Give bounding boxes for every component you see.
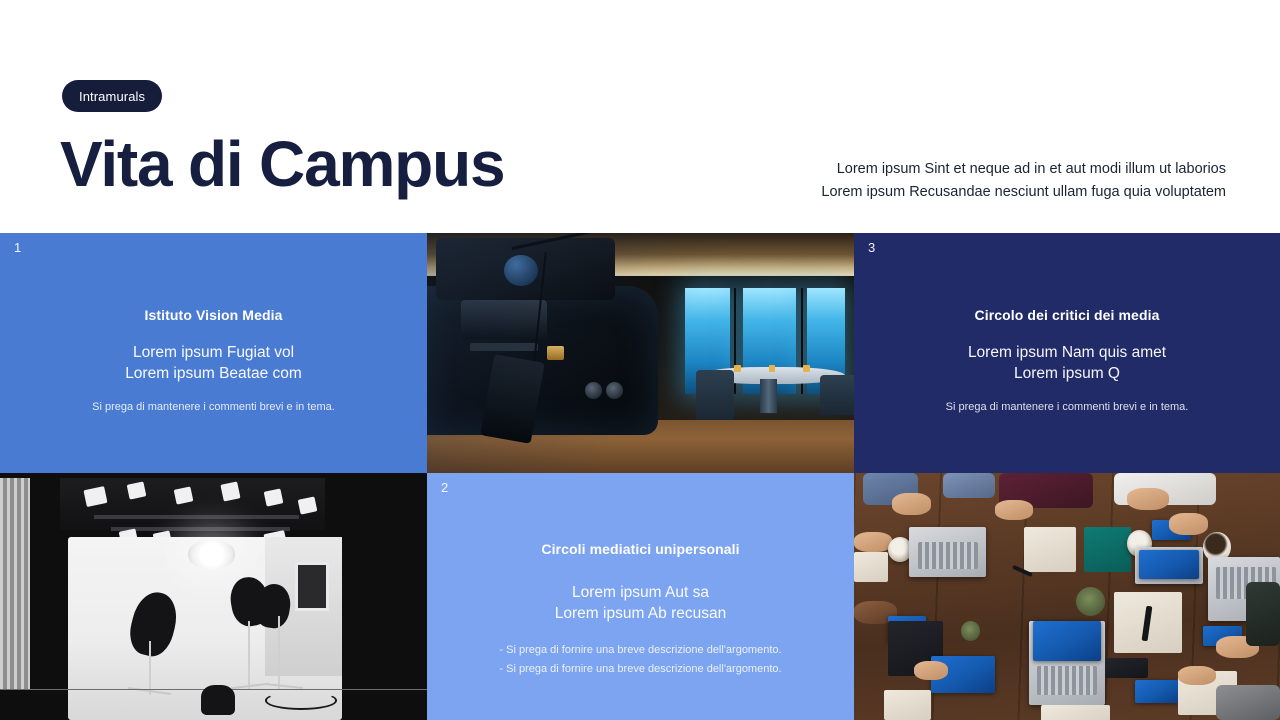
card-3-body-line-1: Lorem ipsum Nam quis amet: [880, 342, 1254, 363]
slide-header: Intramurals Vita di Campus Lorem ipsum S…: [0, 0, 1280, 233]
light-stand-3: [278, 616, 280, 690]
person-sleeve-6: [1216, 685, 1280, 720]
slide: Intramurals Vita di Campus Lorem ipsum S…: [0, 0, 1280, 720]
card-3-number: 3: [868, 240, 875, 256]
person-hand-2: [995, 500, 1033, 520]
person-hand-3: [1127, 488, 1170, 510]
laptop-2-screen: [1033, 621, 1101, 661]
card-1-content: Istituto Vision Media Lorem ipsum Fugiat…: [0, 233, 427, 417]
light-rail-1: [94, 515, 299, 519]
card-3-title: Circolo dei critici dei media: [880, 306, 1254, 324]
coiled-cable: [265, 691, 337, 710]
laptop-2-keyboard: [1037, 666, 1097, 696]
coffee-cup-1: [888, 537, 911, 562]
card-3-body-line-2: Lorem ipsum Q: [880, 363, 1254, 384]
card-2-number: 2: [441, 480, 448, 496]
card-2-note: - Si prega di fornire una breve descrizi…: [453, 641, 828, 679]
person-hand-6: [914, 661, 948, 681]
laptop-1-keyboard: [918, 542, 978, 569]
person-hand-9: [1178, 666, 1216, 686]
ceiling-lamp-6: [298, 496, 318, 514]
card-2-title: Circoli mediatici unipersonali: [453, 540, 828, 558]
photo-meeting-table: [854, 473, 1280, 720]
light-rail-2: [111, 527, 290, 531]
person-hand-4: [854, 532, 892, 552]
category-badge: Intramurals: [62, 80, 162, 112]
card-2-body-line-2: Lorem ipsum Ab recusan: [453, 603, 828, 624]
card-2[interactable]: 2 Circoli mediatici unipersonali Lorem i…: [427, 473, 854, 720]
card-2-body-line-1: Lorem ipsum Aut sa: [453, 582, 828, 603]
phone-case: [1105, 658, 1148, 678]
photo-studio-image: [0, 473, 427, 720]
card-2-content: Circoli mediatici unipersonali Lorem ips…: [427, 473, 854, 679]
card-1-title: Istituto Vision Media: [26, 306, 401, 324]
card-1-body: Lorem ipsum Fugiat vol Lorem ipsum Beata…: [26, 342, 401, 384]
tablet-2-screen: [1139, 550, 1199, 580]
card-1-body-line-2: Lorem ipsum Beatae com: [26, 363, 401, 384]
studio-curtain: [0, 478, 30, 690]
card-1-note-line-1: Si prega di mantenere i commenti brevi e…: [26, 398, 401, 417]
light-stand-2: [248, 621, 250, 690]
header-subtitle: Lorem ipsum Sint et neque ad in et aut m…: [666, 158, 1226, 204]
control-room-window: [295, 562, 329, 611]
card-1-note: Si prega di mantenere i commenti brevi e…: [26, 398, 401, 417]
card-2-body: Lorem ipsum Aut sa Lorem ipsum Ab recusa…: [453, 582, 828, 624]
studio-blue-tint: [427, 233, 854, 473]
card-1[interactable]: 1 Istituto Vision Media Lorem ipsum Fugi…: [0, 233, 427, 473]
person-sleeve-5: [1246, 582, 1280, 646]
card-1-body-line-1: Lorem ipsum Fugiat vol: [26, 342, 401, 363]
card-2-note-line-1: - Si prega di fornire una breve descrizi…: [453, 641, 828, 660]
notebook-1: [854, 552, 888, 582]
photo-photo-studio: [0, 473, 427, 720]
person-hand-7: [1169, 513, 1207, 535]
card-3-note-line-1: Si prega di mantenere i commenti brevi e…: [880, 398, 1254, 417]
person-sleeve-7: [1041, 705, 1109, 720]
smartphone-4: [1135, 680, 1178, 702]
card-3-content: Circolo dei critici dei media Lorem ipsu…: [854, 233, 1280, 417]
card-3-body: Lorem ipsum Nam quis amet Lorem ipsum Q: [880, 342, 1254, 384]
content-grid: 1 Istituto Vision Media Lorem ipsum Fugi…: [0, 233, 1280, 720]
paper-sheet-1: [884, 690, 931, 720]
overhead-softbox-light: [188, 540, 235, 570]
card-1-number: 1: [14, 240, 21, 256]
header-subtitle-line-1: Lorem ipsum Sint et neque ad in et aut m…: [666, 158, 1226, 181]
meeting-table-image: [854, 473, 1280, 720]
small-plant-2: [961, 621, 980, 641]
equipment-bag: [201, 685, 235, 715]
card-3[interactable]: 3 Circolo dei critici dei media Lorem ip…: [854, 233, 1280, 473]
ceiling-lamp-4: [220, 481, 240, 501]
page-title: Vita di Campus: [60, 122, 504, 206]
header-subtitle-line-2: Lorem ipsum Recusandae nesciunt ullam fu…: [666, 181, 1226, 204]
tv-studio-camera-image: [427, 233, 854, 473]
teal-notebook: [1084, 527, 1131, 571]
card-3-note: Si prega di mantenere i commenti brevi e…: [880, 398, 1254, 417]
photo-tv-studio-camera: [427, 233, 854, 473]
person-hand-1: [892, 493, 930, 515]
person-sleeve-2: [943, 473, 994, 498]
card-2-note-line-2: - Si prega di fornire una breve descrizi…: [453, 660, 828, 679]
light-stand-1: [149, 641, 151, 695]
notepad-center: [1024, 527, 1075, 571]
category-badge-label: Intramurals: [79, 89, 145, 104]
